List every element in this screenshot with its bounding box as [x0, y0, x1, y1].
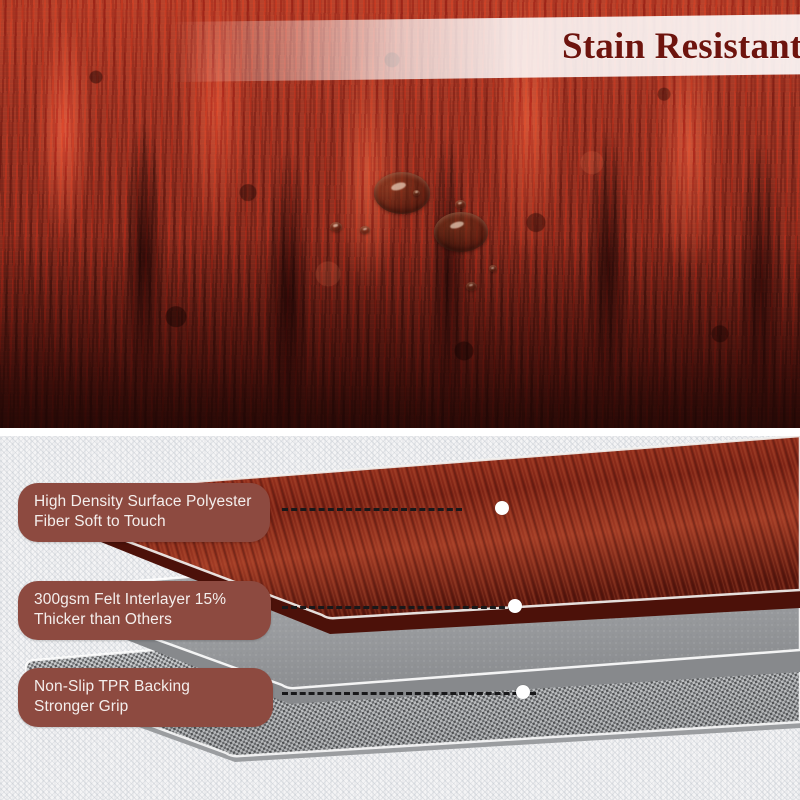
- callout-felt-layer[interactable]: 300gsm Felt Interlayer 15% Thicker than …: [18, 581, 271, 640]
- callout-surface-line1: High Density Surface Polyester: [34, 492, 254, 512]
- callout-backing-line2: Stronger Grip: [34, 697, 257, 717]
- callout-surface-layer[interactable]: High Density Surface Polyester Fiber Sof…: [18, 483, 270, 542]
- callout-backing-line1: Non-Slip TPR Backing: [34, 677, 257, 697]
- connector-line-surface: [282, 508, 462, 511]
- headline-text: Stain Resistant: [562, 24, 800, 67]
- hero-photo-panel: Stain Resistant: [0, 0, 800, 428]
- anchor-dot-backing: [516, 685, 530, 699]
- headline-banner: Stain Resistant: [170, 14, 800, 82]
- callout-backing-layer[interactable]: Non-Slip TPR Backing Stronger Grip: [18, 668, 273, 727]
- connector-line-felt: [282, 606, 514, 609]
- anchor-dot-surface: [495, 501, 509, 515]
- infographic-page: Stain Resistant: [0, 0, 800, 800]
- anchor-dot-felt: [508, 599, 522, 613]
- callout-felt-line2: Thicker than Others: [34, 610, 255, 630]
- callout-surface-line2: Fiber Soft to Touch: [34, 512, 254, 532]
- callout-felt-line1: 300gsm Felt Interlayer 15%: [34, 590, 255, 610]
- connector-line-backing: [282, 692, 536, 695]
